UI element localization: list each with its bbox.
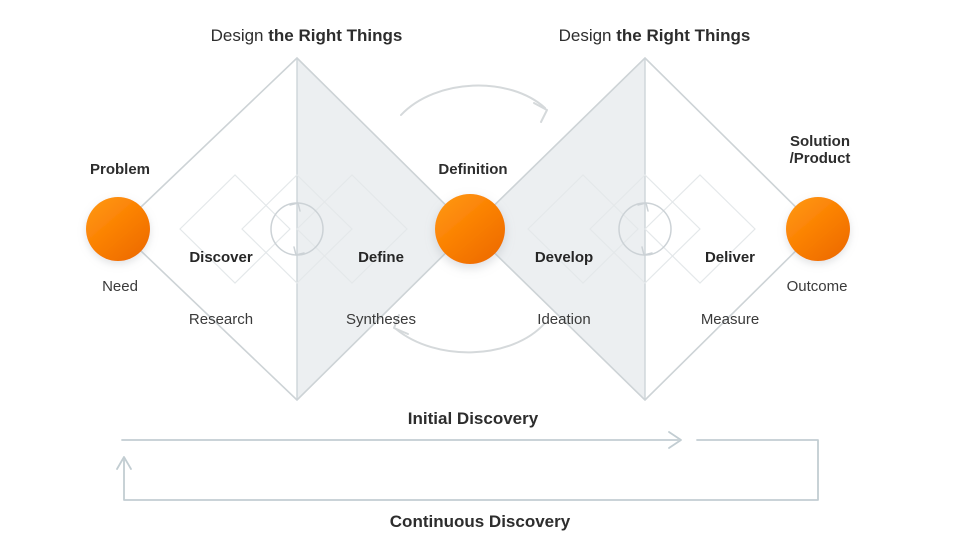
phase-develop: Develop Ideation bbox=[489, 212, 639, 365]
heading-right-emphasis: the Right Things bbox=[616, 26, 750, 45]
phase-discover: Discover Research bbox=[146, 212, 296, 365]
phase-define-title: Define bbox=[306, 249, 456, 266]
milestone-orb-problem bbox=[86, 197, 150, 261]
phase-develop-subtitle: Ideation bbox=[489, 311, 639, 328]
milestone-label-solution-product: Solution/Product bbox=[725, 133, 915, 168]
milestone-label-definition: Definition bbox=[373, 161, 573, 178]
phase-deliver-subtitle: Measure bbox=[655, 311, 805, 328]
phase-define: Define Syntheses bbox=[306, 212, 456, 365]
initial-discovery-arrow bbox=[122, 432, 681, 448]
heading-right-diamond: Design the Right Things bbox=[540, 6, 751, 65]
phase-deliver: Deliver Measure bbox=[655, 212, 805, 365]
phase-define-subtitle: Syntheses bbox=[306, 311, 456, 328]
heading-right-lead: Design bbox=[559, 26, 617, 45]
flow-label-initial-discovery: Initial Discovery bbox=[313, 409, 633, 429]
flow-label-continuous-discovery: Continuous Discovery bbox=[280, 512, 680, 532]
heading-left-diamond: Design the Right Things bbox=[192, 6, 403, 65]
phase-discover-subtitle: Research bbox=[146, 311, 296, 328]
curved-arrow-right-icon bbox=[401, 86, 547, 122]
phase-deliver-title: Deliver bbox=[655, 249, 805, 266]
heading-left-lead: Design bbox=[211, 26, 269, 45]
phase-discover-title: Discover bbox=[146, 249, 296, 266]
milestone-label-problem: Problem bbox=[40, 161, 200, 178]
phase-develop-title: Develop bbox=[489, 249, 639, 266]
diagram-canvas: Design the Right Things Design the Right… bbox=[0, 0, 960, 540]
heading-left-emphasis: the Right Things bbox=[268, 26, 402, 45]
diagram-vector-layer bbox=[0, 0, 960, 540]
continuous-discovery-loop bbox=[117, 440, 818, 500]
